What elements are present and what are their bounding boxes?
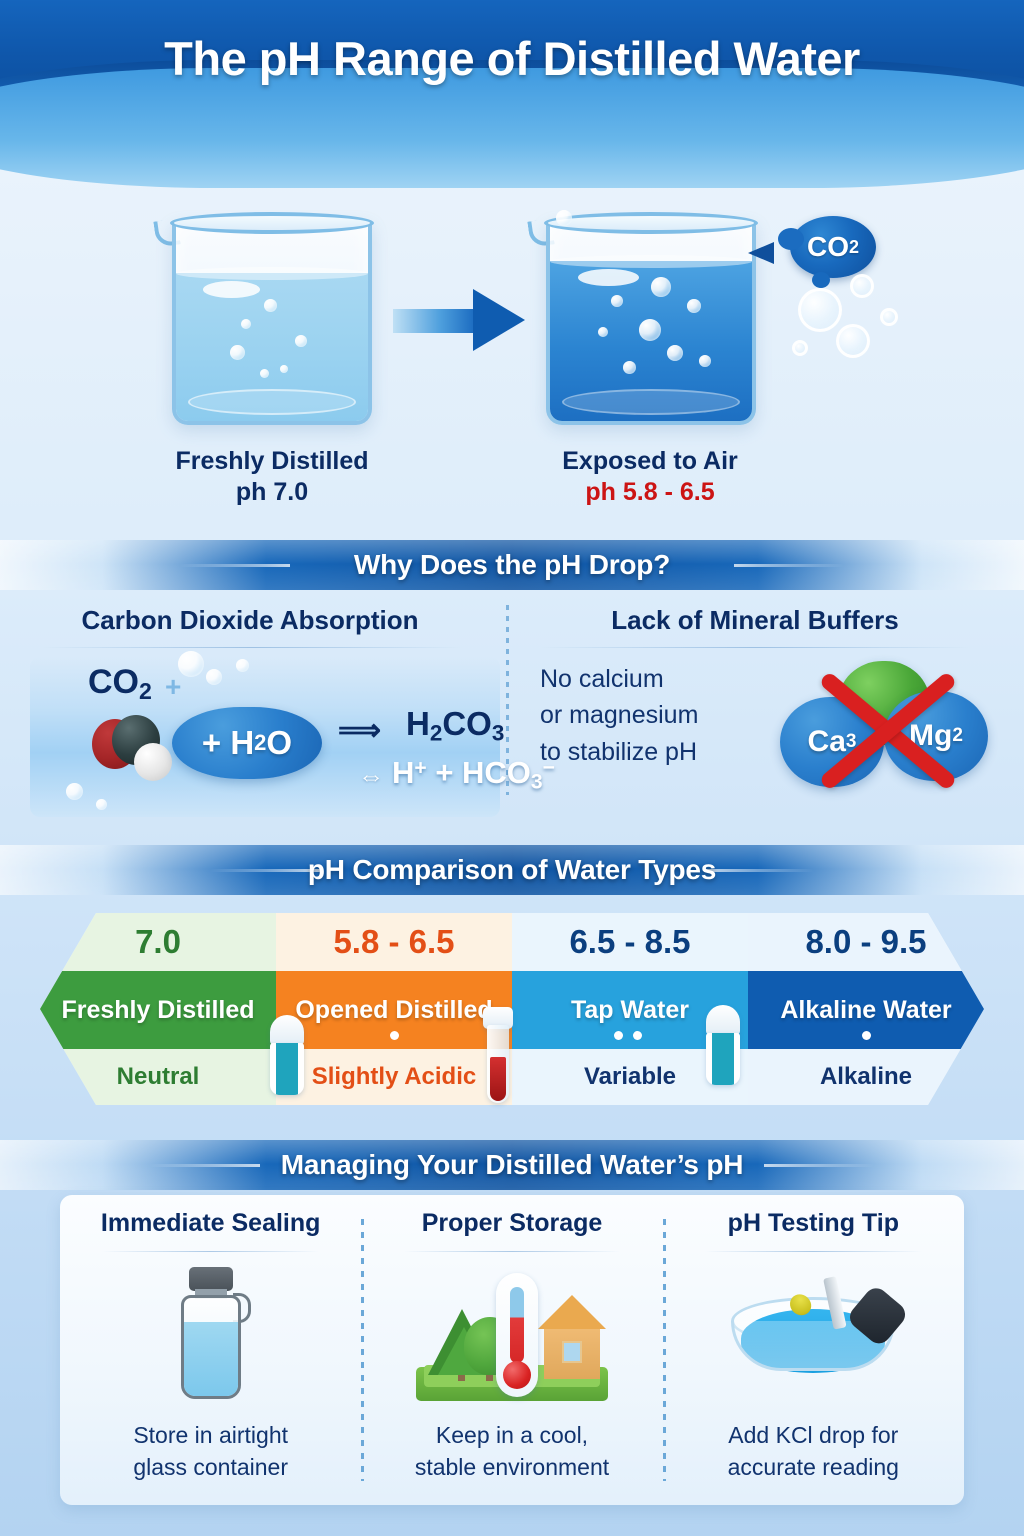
- test-vial-icon: [268, 1015, 306, 1099]
- co2-text: CO: [88, 663, 139, 701]
- bubble-icon: [699, 355, 711, 367]
- card-vertical-divider: [663, 1219, 666, 1481]
- bubble-icon: [598, 327, 608, 337]
- ph-category-label: Opened Distilled: [295, 996, 492, 1024]
- equation-products: H+ + HCO3−: [392, 755, 555, 794]
- card-vertical-divider: [361, 1219, 364, 1481]
- beaker-rim: [544, 212, 758, 234]
- mineral-molecules-icon: Ca3 Mg2: [780, 661, 980, 791]
- air-bubble-icon: [792, 340, 808, 356]
- water-surface: [176, 267, 368, 280]
- card-text: Store in airtight glass container: [60, 1419, 361, 1483]
- house-window-icon: [562, 1341, 582, 1363]
- bubble-icon: [667, 345, 683, 361]
- ph-description: Slightly Acidic: [312, 1063, 476, 1091]
- beaker-right-name: Exposed to Air: [562, 447, 738, 475]
- bubble-icon: [639, 319, 661, 341]
- beaker-base-ellipse: [562, 389, 740, 415]
- card-proper-storage[interactable]: Proper Storage: [361, 1195, 662, 1505]
- bubble-icon: [236, 659, 249, 672]
- co2-text: CO: [807, 231, 849, 263]
- why-left-title: Carbon Dioxide Absorption: [20, 605, 480, 636]
- pipette-bulb: [845, 1283, 910, 1348]
- beaker-water: [550, 261, 752, 421]
- card-icon-area: [361, 1265, 662, 1403]
- card-title: Proper Storage: [361, 1209, 662, 1238]
- bubble-icon: [230, 345, 245, 360]
- h2co3-sub1: 2: [430, 721, 442, 746]
- mineral-line-1: No calcium: [540, 661, 790, 697]
- managing-cards: Immediate Sealing Store in airtight glas…: [60, 1195, 964, 1505]
- equation-h2co3: H2CO3: [406, 705, 504, 747]
- card-divider: [705, 1251, 922, 1252]
- card-text-line1: Keep in a cool,: [361, 1419, 662, 1451]
- why-right-divider: [540, 647, 970, 648]
- beaker-right-label: Exposed to Air ph 5.8 - 6.5: [460, 446, 840, 509]
- ph-description: Neutral: [117, 1063, 200, 1091]
- card-title: pH Testing Tip: [663, 1209, 964, 1238]
- vial-body: [706, 1033, 740, 1085]
- mineral-buffer-text: No calcium or magnesium to stabilize pH: [540, 661, 790, 770]
- arrow-head: [473, 289, 525, 351]
- bubble-icon: [280, 365, 288, 373]
- beaker-freshly-distilled: [172, 206, 372, 436]
- cross-out-icon: [804, 665, 972, 791]
- bottle-water: [184, 1322, 238, 1396]
- page-title: The pH Range of Distilled Water: [0, 0, 1024, 118]
- ph-description-cell: Alkaline: [748, 1049, 984, 1105]
- ph-marker-dot: [614, 1031, 623, 1040]
- beaker-water: [176, 273, 368, 421]
- section-band-managing: Managing Your Distilled Water’s pH: [0, 1140, 1024, 1190]
- ph-category-label: Freshly Distilled: [61, 996, 254, 1024]
- air-bubble-icon: [798, 288, 842, 332]
- ph-comparison-chart: 7.05.8 - 6.56.5 - 8.58.0 - 9.5 Freshly D…: [0, 895, 1024, 1125]
- card-text-line2: stable environment: [361, 1451, 662, 1483]
- card-divider: [102, 1251, 319, 1252]
- ph-category-label: Tap Water: [571, 996, 689, 1024]
- card-text: Keep in a cool, stable environment: [361, 1419, 662, 1483]
- bubble-icon: [178, 651, 204, 677]
- thermometer-icon: [496, 1273, 538, 1397]
- beaker-comparison: CO2 Freshly Distilled ph 7.0 Exposed to …: [0, 196, 1024, 526]
- bottle-icon: [175, 1267, 247, 1401]
- ph-value: 7.0: [135, 923, 181, 961]
- card-divider: [404, 1251, 621, 1252]
- thermometer-bulb: [503, 1361, 531, 1389]
- ph-value-cell: 5.8 - 6.5: [276, 913, 512, 971]
- mineral-line-3: to stabilize pH: [540, 734, 790, 770]
- beaker-base-ellipse: [188, 389, 357, 415]
- ph-marker-dot: [390, 1031, 399, 1040]
- bubble-icon: [206, 669, 222, 685]
- h2co3-mid: CO: [442, 705, 492, 742]
- ph-value-cell: 8.0 - 9.5: [748, 913, 984, 971]
- bottle-cap: [189, 1267, 233, 1291]
- ph-description-cell: Neutral: [40, 1049, 276, 1105]
- h2co3-sub2: 3: [492, 721, 504, 746]
- hydrogen-atom-icon: [134, 743, 172, 781]
- card-text-line2: glass container: [60, 1451, 361, 1483]
- transition-arrow-icon: [393, 289, 527, 351]
- bubble-icon: [611, 295, 623, 307]
- infographic-page: The pH Range of Distilled Water Pure dis…: [0, 0, 1024, 1536]
- arrow-shaft: [393, 309, 479, 333]
- co2-label-icon: CO2: [790, 216, 876, 278]
- card-icon-area: [60, 1265, 361, 1403]
- beaker-rim: [170, 212, 374, 234]
- bubble-icon: [241, 319, 251, 329]
- ph-value: 5.8 - 6.5: [333, 923, 454, 961]
- beaker-left-label: Freshly Distilled ph 7.0: [82, 446, 462, 509]
- water-highlight: [203, 281, 261, 298]
- bubble-icon: [66, 783, 83, 800]
- bubble-icon: [687, 299, 701, 313]
- ph-value-row: 7.05.8 - 6.56.5 - 8.58.0 - 9.5: [40, 913, 984, 971]
- bubble-icon: [260, 369, 269, 378]
- products-sub: 3: [531, 770, 543, 793]
- water-highlight: [578, 269, 639, 286]
- products-h-charge: +: [414, 757, 426, 780]
- section-band-why: Why Does the pH Drop?: [0, 540, 1024, 590]
- card-title: Immediate Sealing: [60, 1209, 361, 1238]
- h2co3-text: H: [406, 705, 430, 742]
- h2o-subscript: 2: [254, 730, 266, 756]
- ph-value-cell: 7.0: [40, 913, 276, 971]
- why-right-title: Lack of Mineral Buffers: [520, 605, 990, 636]
- air-bubble-icon: [836, 324, 870, 358]
- why-left-divider: [42, 647, 462, 648]
- bubble-icon: [96, 799, 107, 810]
- card-text-line1: Store in airtight: [60, 1419, 361, 1451]
- thermometer-column: [510, 1287, 524, 1363]
- beaker-exposed-to-air: [546, 206, 756, 436]
- test-vial-icon: [704, 1005, 742, 1089]
- vial-cap: [706, 1005, 740, 1035]
- bubble-icon: [651, 277, 671, 297]
- bubble-icon: [556, 210, 572, 226]
- section-title-managing: Managing Your Distilled Water’s pH: [0, 1140, 1024, 1190]
- ph-value: 8.0 - 9.5: [805, 923, 926, 961]
- ph-value-cell: 6.5 - 8.5: [512, 913, 748, 971]
- card-text: Add KCl drop for accurate reading: [663, 1419, 964, 1483]
- ph-category-cell[interactable]: Alkaline Water: [748, 971, 984, 1049]
- products-h: H: [392, 755, 414, 790]
- house-roof-icon: [538, 1295, 606, 1329]
- h2o-text-end: O: [266, 724, 292, 762]
- pipette-tip: [786, 1290, 816, 1319]
- equation-h2o: + H2O: [172, 707, 322, 779]
- landscape-thermometer-icon: [416, 1271, 608, 1401]
- bubble-icon: [264, 299, 277, 312]
- ph-description: Alkaline: [820, 1063, 912, 1091]
- air-bubble-icon: [880, 308, 898, 326]
- tube-liquid: [490, 1057, 506, 1101]
- co2-molecule-icon: [92, 713, 178, 783]
- mineral-line-2: or magnesium: [540, 697, 790, 733]
- card-icon-area: [663, 1265, 964, 1403]
- card-text-line1: Add KCl drop for: [663, 1419, 964, 1451]
- blood-tube-icon: [483, 1007, 513, 1103]
- beaker-glass: [172, 220, 372, 425]
- ph-description-cell: Slightly Acidic: [276, 1049, 512, 1105]
- equation-co2: CO2: [88, 663, 152, 705]
- pipette-stem: [823, 1276, 847, 1330]
- ph-description: Variable: [584, 1063, 676, 1091]
- ph-category-cell[interactable]: Opened Distilled: [276, 971, 512, 1049]
- bottle-glass: [181, 1295, 241, 1399]
- beaker-left-ph: ph 7.0: [82, 477, 462, 508]
- equation-equilibrium-arrow: ⇔: [358, 761, 384, 792]
- card-text-line2: accurate reading: [663, 1451, 964, 1483]
- vial-body: [270, 1043, 304, 1095]
- ph-category-cell[interactable]: Freshly Distilled: [40, 971, 276, 1049]
- section-title-comparison: pH Comparison of Water Types: [0, 845, 1024, 895]
- ph-value: 6.5 - 8.5: [569, 923, 690, 961]
- vial-cap: [270, 1015, 304, 1045]
- equation-arrow: ⟹: [338, 721, 398, 741]
- beaker-left-name: Freshly Distilled: [175, 447, 368, 475]
- co2-subscript: 2: [139, 678, 152, 704]
- bubble-icon: [295, 335, 307, 347]
- card-immediate-sealing[interactable]: Immediate Sealing Store in airtight glas…: [60, 1195, 361, 1505]
- co2-subscript: 2: [849, 237, 859, 258]
- air-bubble-icon: [850, 274, 874, 298]
- equation-plus: +: [165, 671, 181, 703]
- water-surface: [550, 255, 752, 268]
- beaker-right-ph: ph 5.8 - 6.5: [460, 477, 840, 508]
- co2-pointer-icon: [748, 242, 774, 264]
- bubble-icon: [623, 361, 636, 374]
- ph-marker-dot: [862, 1031, 871, 1040]
- products-mid: + HCO: [427, 755, 531, 790]
- card-ph-testing-tip[interactable]: pH Testing Tip Add KCl: [663, 1195, 964, 1505]
- ph-marker-dot: [633, 1031, 642, 1040]
- ph-category-label: Alkaline Water: [780, 996, 951, 1024]
- section-title-why: Why Does the pH Drop?: [0, 540, 1024, 590]
- h2o-text: + H: [202, 724, 254, 762]
- why-section: Carbon Dioxide Absorption Lack of Minera…: [0, 595, 1024, 830]
- page-header: The pH Range of Distilled Water: [0, 0, 1024, 118]
- beaker-glass: [546, 220, 756, 425]
- managing-columns: Immediate Sealing Store in airtight glas…: [60, 1195, 964, 1505]
- dropper-dish-icon: [731, 1297, 895, 1389]
- section-band-comparison: pH Comparison of Water Types: [0, 845, 1024, 895]
